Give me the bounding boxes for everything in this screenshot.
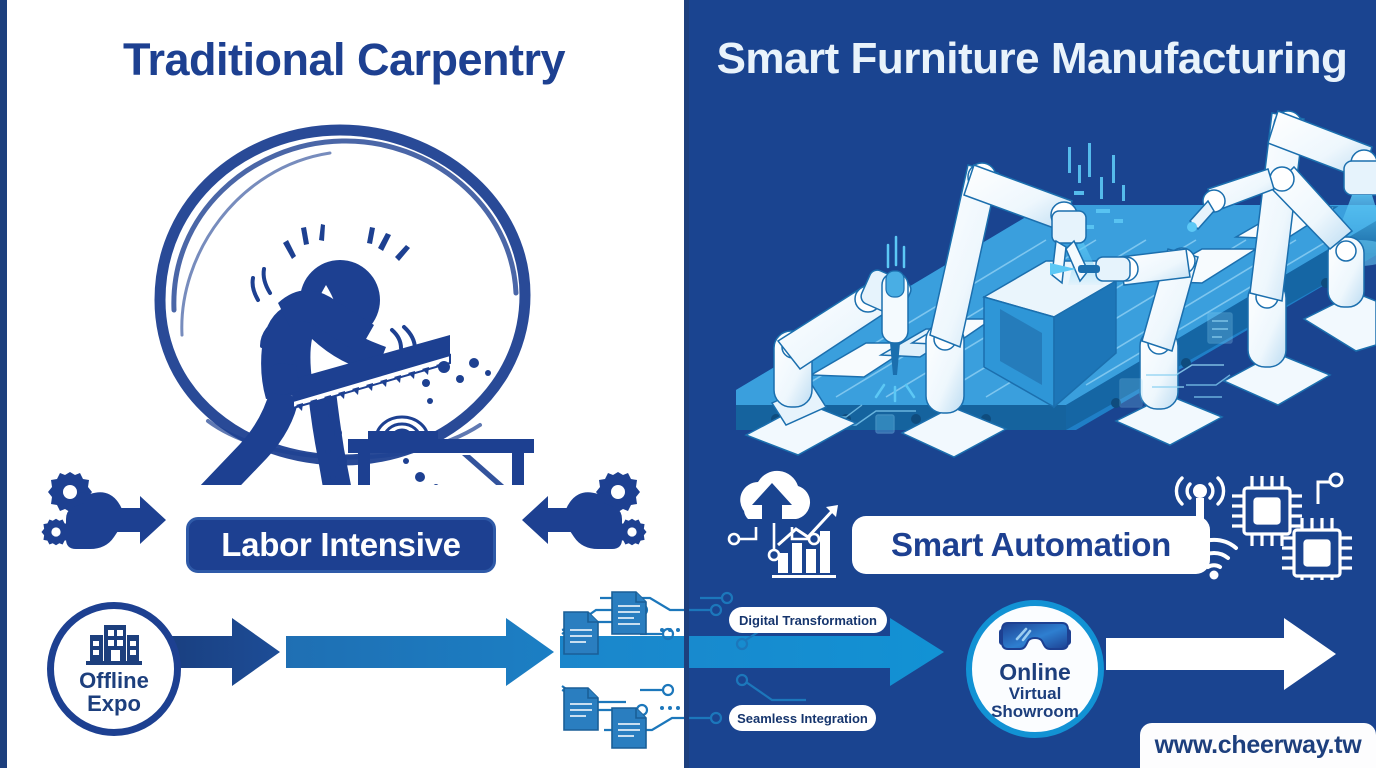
left-edge-strip (0, 0, 7, 768)
smart-automation-badge[interactable]: Smart Automation (852, 516, 1210, 574)
antenna-dot-icon (1193, 484, 1207, 498)
microchip-icon (1232, 476, 1302, 546)
bar-chart-growth-icon (772, 505, 838, 578)
iot-icons-group (1168, 468, 1368, 580)
document-icons-lower (564, 688, 646, 748)
circuit-node-icon (1318, 474, 1342, 504)
carpenter-illustration (130, 105, 550, 485)
wifi-icon (1192, 540, 1236, 567)
gears-and-biceps-left-group (40, 470, 180, 570)
cloud-upload-icon (740, 471, 810, 519)
flow-arrow-4 (1106, 618, 1336, 690)
offline-expo-line1: Offline (79, 670, 149, 692)
office-building-icon (86, 623, 142, 667)
pill-seamless-integration[interactable]: Seamless Integration (729, 705, 876, 731)
offline-expo-line2: Expo (87, 693, 141, 715)
vr-headset-icon (999, 619, 1071, 659)
online-line1: Online (999, 661, 1071, 684)
online-line3: Showroom (991, 703, 1079, 720)
left-panel-title: Traditional Carpentry (0, 34, 688, 86)
cloud-node-connectors (729, 523, 819, 560)
online-line2: Virtual (1009, 685, 1062, 702)
online-virtual-showroom-node[interactable]: Online Virtual Showroom (966, 600, 1104, 738)
pill-digital-transformation[interactable]: Digital Transformation (729, 607, 887, 633)
smart-factory-illustration (716, 85, 1376, 475)
labor-intensive-badge[interactable]: Labor Intensive (186, 517, 496, 573)
cloud-and-chart-group (722, 465, 852, 580)
panel-divider (684, 0, 689, 768)
dot-separator (660, 628, 680, 632)
right-panel-title: Smart Furniture Manufacturing (688, 34, 1376, 84)
antenna-mast (1196, 498, 1204, 532)
website-url-badge[interactable]: www.cheerway.tw (1140, 723, 1376, 768)
gears-and-biceps-right-group (508, 470, 648, 570)
infographic-canvas: Traditional Carpentry Smart Furniture Ma… (0, 0, 1376, 768)
dot-separator (660, 706, 680, 710)
wifi-dot-icon (1210, 571, 1219, 580)
offline-expo-node[interactable]: Offline Expo (47, 602, 181, 736)
flow-arrow-2 (286, 618, 554, 686)
